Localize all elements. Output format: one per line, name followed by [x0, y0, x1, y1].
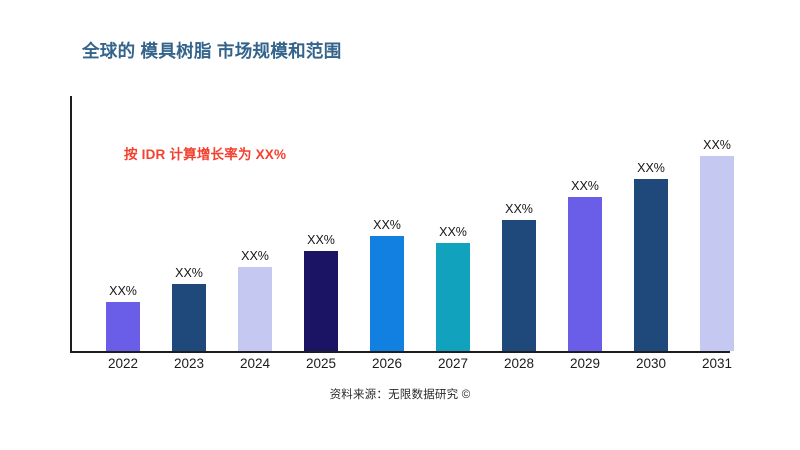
bar-2026[interactable] — [370, 236, 404, 351]
bar-group: XX% — [634, 96, 668, 352]
bar-group: XX% — [502, 96, 536, 352]
bar-group: XX% — [172, 96, 206, 352]
bar-group: XX% — [568, 96, 602, 352]
bar-2028[interactable] — [502, 220, 536, 351]
bar-2031[interactable] — [700, 156, 734, 351]
x-tick-label-2022: 2022 — [108, 356, 138, 371]
bar-value-label: XX% — [637, 161, 665, 175]
x-tick-label-2027: 2027 — [438, 356, 468, 371]
bar-value-label: XX% — [439, 225, 467, 239]
bars-layer: XX%XX%XX%XX%XX%XX%XX%XX%XX%XX% — [70, 96, 788, 352]
bar-group: XX% — [106, 96, 140, 352]
bar-2024[interactable] — [238, 267, 272, 351]
chart-page: 全球的 模具树脂 市场规模和范围 百万美元 按 IDR 计算增长率为 XX% X… — [0, 0, 800, 450]
bar-value-label: XX% — [109, 284, 137, 298]
bar-value-label: XX% — [505, 202, 533, 216]
x-tick-label-2031: 2031 — [702, 356, 732, 371]
x-tick-label-2030: 2030 — [636, 356, 666, 371]
x-tick-label-2024: 2024 — [240, 356, 270, 371]
bar-value-label: XX% — [703, 138, 731, 152]
x-tick-label-2025: 2025 — [306, 356, 336, 371]
bar-value-label: XX% — [307, 233, 335, 247]
bar-2029[interactable] — [568, 197, 602, 351]
bar-2022[interactable] — [106, 302, 140, 351]
x-axis-labels: 2022202320242025202620272028202920302031 — [70, 356, 788, 378]
x-tick-label-2028: 2028 — [504, 356, 534, 371]
bar-value-label: XX% — [175, 266, 203, 280]
source-note: 资料来源：无限数据研究 © — [330, 386, 471, 402]
bar-group: XX% — [436, 96, 470, 352]
bar-2023[interactable] — [172, 284, 206, 351]
bar-group: XX% — [700, 96, 734, 352]
bar-value-label: XX% — [241, 249, 269, 263]
bar-2027[interactable] — [436, 243, 470, 351]
bar-group: XX% — [238, 96, 272, 352]
page-title: 全球的 模具树脂 市场规模和范围 — [82, 38, 342, 63]
bar-group: XX% — [304, 96, 338, 352]
x-tick-label-2029: 2029 — [570, 356, 600, 371]
bar-2025[interactable] — [304, 251, 338, 351]
bar-group: XX% — [370, 96, 404, 352]
x-tick-label-2023: 2023 — [174, 356, 204, 371]
bar-value-label: XX% — [373, 218, 401, 232]
bar-value-label: XX% — [571, 179, 599, 193]
x-tick-label-2026: 2026 — [372, 356, 402, 371]
bar-2030[interactable] — [634, 179, 668, 351]
